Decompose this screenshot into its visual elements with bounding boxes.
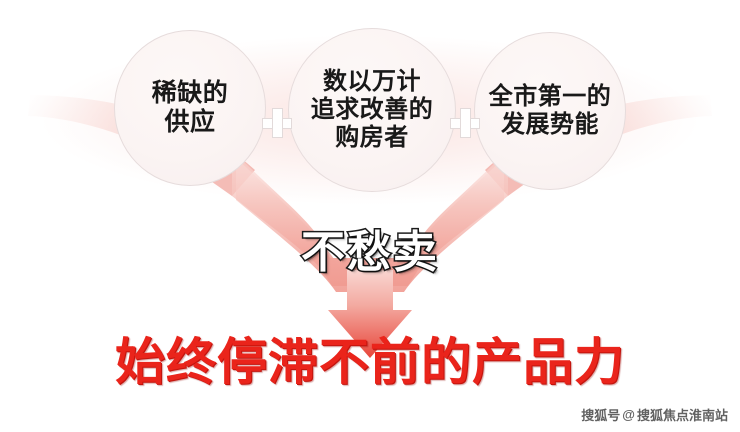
watermark-prefix: 搜狐号 xyxy=(581,405,620,424)
concept-circle-1-text: 稀缺的 供应 xyxy=(152,79,229,137)
circle-2-line-2: 追求改善的 xyxy=(311,96,434,124)
plus-icon xyxy=(450,108,480,138)
concept-circle-2-text: 数以万计 追求改善的 购房者 xyxy=(311,68,434,151)
infographic-slide: 稀缺的 供应 数以万计 追求改善的 购房者 全市第一的 发展势能 不愁卖 始终停… xyxy=(0,0,740,432)
middle-headline: 不愁卖 xyxy=(0,216,740,280)
circle-3-line-1: 全市第一的 xyxy=(489,83,612,111)
concept-circle-3[interactable]: 全市第一的 发展势能 xyxy=(474,32,626,190)
watermark-at-icon: @ xyxy=(622,408,635,421)
circle-1-line-2: 供应 xyxy=(152,108,229,137)
circle-1-line-1: 稀缺的 xyxy=(152,79,229,108)
plus-icon xyxy=(262,108,292,138)
concept-circle-2[interactable]: 数以万计 追求改善的 购房者 xyxy=(288,28,456,192)
concept-circle-1[interactable]: 稀缺的 供应 xyxy=(114,30,266,186)
watermark: 搜狐号 @ 搜狐焦点淮南站 xyxy=(581,405,728,424)
bottom-headline: 始终停滞不前的产品力 xyxy=(0,322,740,394)
circle-2-line-1: 数以万计 xyxy=(311,68,434,96)
watermark-account: 搜狐焦点淮南站 xyxy=(637,405,728,424)
circle-2-line-3: 购房者 xyxy=(311,124,434,152)
concept-circle-3-text: 全市第一的 发展势能 xyxy=(489,83,612,139)
circle-3-line-2: 发展势能 xyxy=(489,111,612,139)
